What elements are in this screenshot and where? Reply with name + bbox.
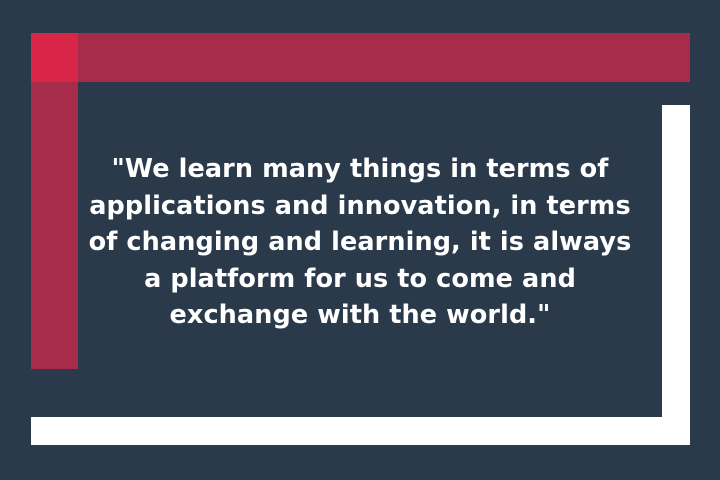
frame-bar-bottom (31, 417, 690, 445)
frame-bar-right (662, 105, 690, 417)
quote-card-canvas: "We learn many things in terms of applic… (0, 0, 720, 480)
quote-block: "We learn many things in terms of applic… (78, 150, 642, 335)
accent-bar-top (31, 33, 690, 82)
accent-bar-left (31, 82, 78, 369)
quote-text: "We learn many things in terms of applic… (78, 151, 642, 333)
accent-square-corner (31, 33, 78, 82)
